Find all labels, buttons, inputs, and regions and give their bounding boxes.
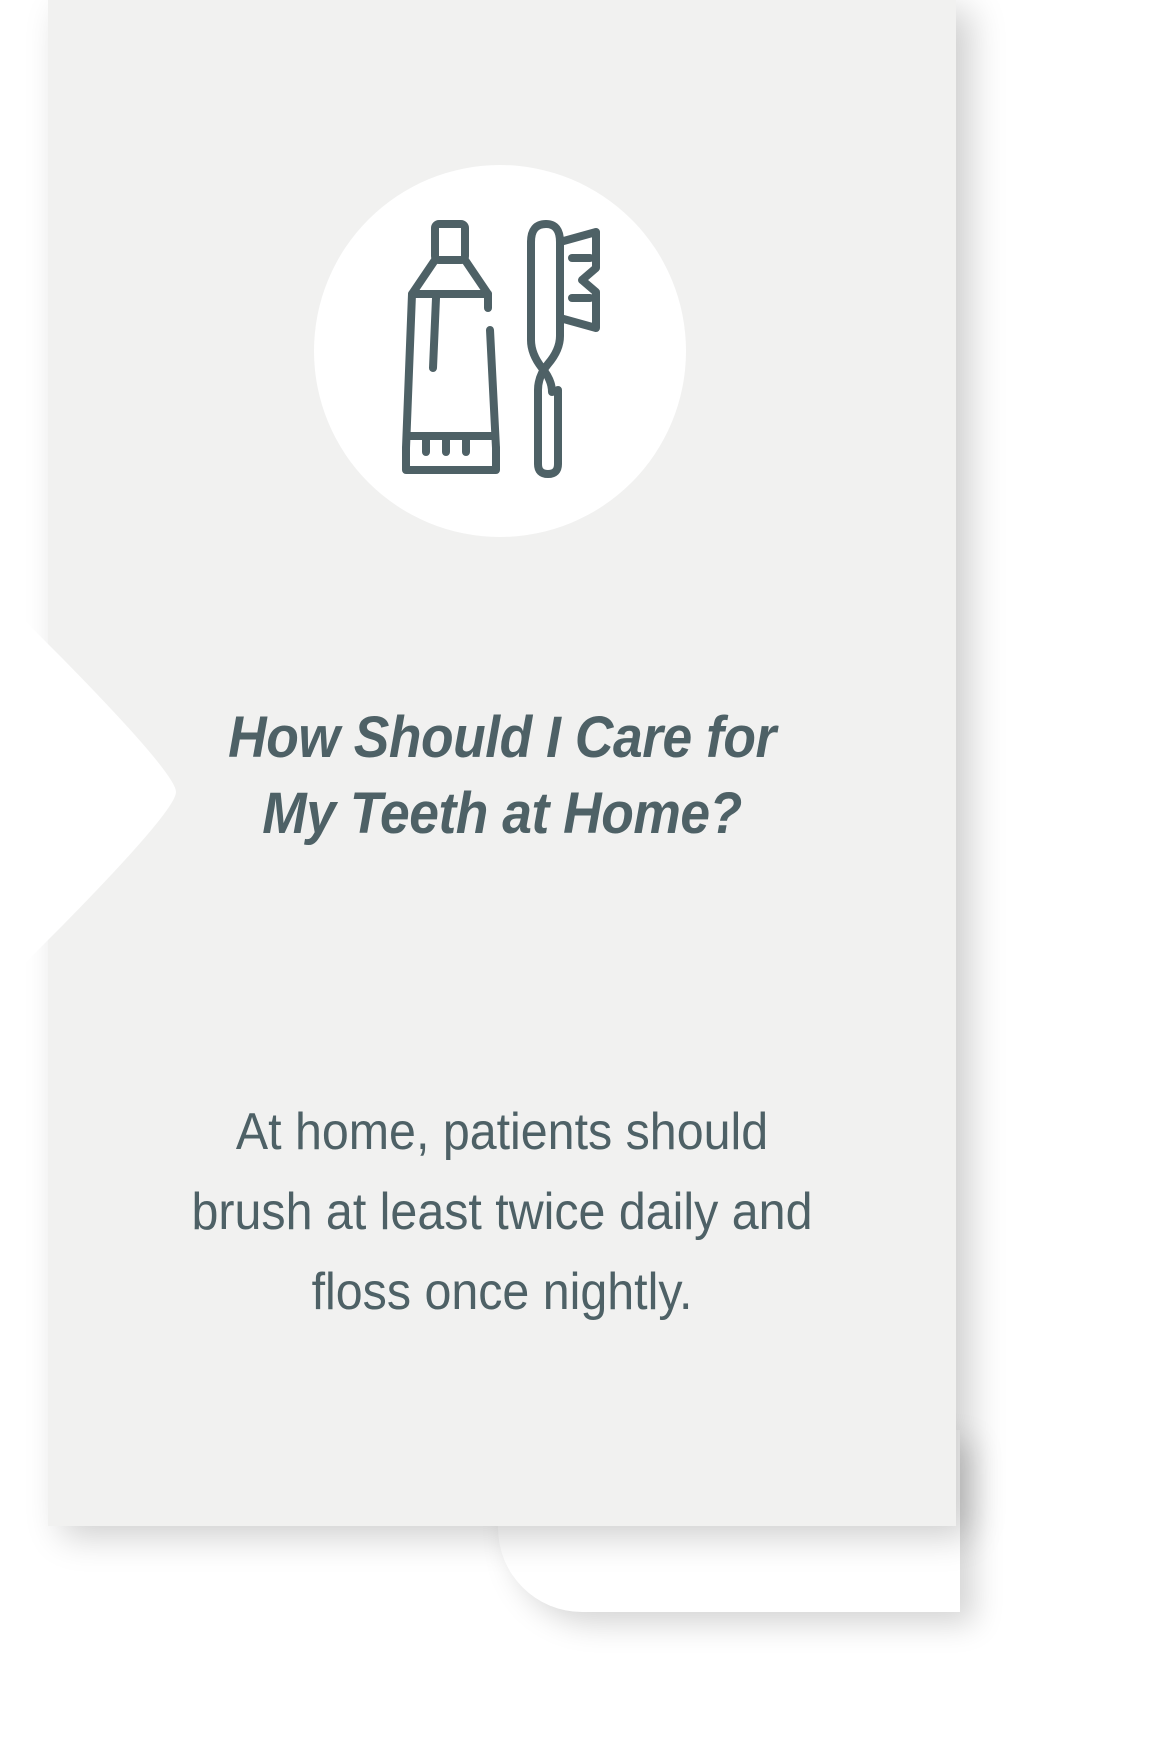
body-line-3: floss once nightly. bbox=[117, 1252, 887, 1332]
card-heading: How Should I Care for My Teeth at Home? bbox=[140, 700, 865, 852]
card-canvas: How Should I Care for My Teeth at Home? … bbox=[0, 0, 1152, 1749]
toothpaste-and-toothbrush-icon bbox=[400, 218, 600, 480]
body-line-1: At home, patients should bbox=[117, 1092, 887, 1172]
body-line-2: brush at least twice daily and bbox=[117, 1172, 887, 1252]
card-body-text: At home, patients should brush at least … bbox=[117, 1092, 887, 1332]
heading-line-1: How Should I Care for bbox=[140, 700, 865, 776]
heading-line-2: My Teeth at Home? bbox=[140, 776, 865, 852]
